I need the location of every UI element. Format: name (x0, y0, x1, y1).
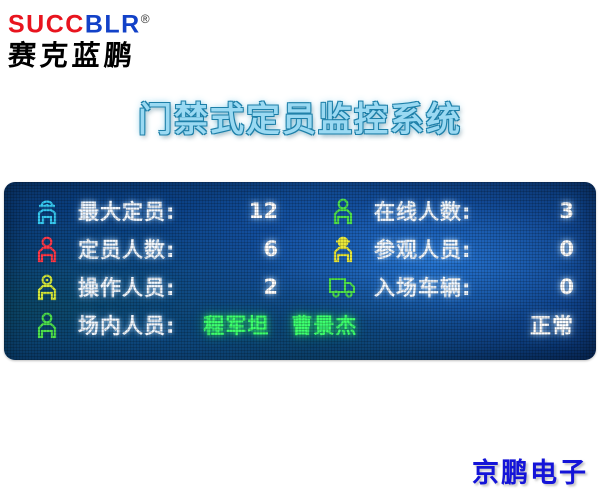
led-value: 3 (559, 199, 574, 223)
led-cell-online-count: 在线人数: 3 (300, 192, 596, 230)
led-cell-vehicle-count: 入场车辆: 0 (300, 268, 596, 306)
operator-icon (26, 272, 68, 302)
person-onsite-icon (26, 310, 68, 340)
visitor-icon (322, 234, 364, 264)
led-row: 操作人员: 2 入场车辆: 0 (4, 268, 596, 306)
led-label-onsite: 场内人员: (78, 310, 175, 340)
led-label: 入场车辆: (374, 272, 471, 302)
person-online-icon (322, 196, 364, 226)
led-display-panel: 最大定员: 12 在线人数: 3 (4, 182, 596, 360)
led-cell-operator-count: 操作人员: 2 (4, 268, 300, 306)
person-registered-icon (26, 234, 68, 264)
led-row: 定员人数: 6 参观人员: 0 (4, 230, 596, 268)
logo-latin-part1: SUCC (8, 10, 85, 38)
led-value: 6 (263, 237, 278, 261)
led-value: 0 (559, 237, 574, 261)
company-logo: SUCCBLR® 赛克蓝鹏 (8, 6, 228, 76)
led-row: 最大定员: 12 在线人数: 3 (4, 192, 596, 230)
truck-icon (322, 272, 364, 302)
led-value: 0 (559, 275, 574, 299)
led-row-onsite-personnel: 场内人员: 程军坦曹景杰 正常 (4, 306, 596, 344)
onsite-names-list: 程军坦曹景杰 (203, 310, 379, 340)
footer-brand-text: 京鹏电子 (472, 451, 588, 490)
list-item: 曹景杰 (291, 314, 357, 338)
led-label: 在线人数: (374, 196, 471, 226)
page-title: 门禁式定员监控系统 (0, 92, 600, 141)
logo-latin-part2: BLR (85, 10, 141, 38)
led-cell-visitor-count: 参观人员: 0 (300, 230, 596, 268)
status-badge: 正常 (530, 310, 574, 340)
led-cell-max-capacity: 最大定员: 12 (4, 192, 300, 230)
led-value: 12 (249, 199, 278, 223)
led-label: 定员人数: (78, 234, 175, 264)
led-cell-registered-count: 定员人数: 6 (4, 230, 300, 268)
logo-latin-text: SUCCBLR® (8, 6, 228, 38)
logo-chinese-text: 赛克蓝鹏 (7, 39, 229, 73)
led-value: 2 (263, 275, 278, 299)
led-label: 最大定员: (78, 196, 175, 226)
led-label: 参观人员: (374, 234, 471, 264)
led-label: 操作人员: (78, 272, 175, 302)
led-panel-content: 最大定员: 12 在线人数: 3 (4, 182, 596, 360)
registered-trademark-icon: ® (141, 12, 150, 26)
list-item: 程军坦 (203, 314, 269, 338)
worker-helmet-icon (26, 196, 68, 226)
